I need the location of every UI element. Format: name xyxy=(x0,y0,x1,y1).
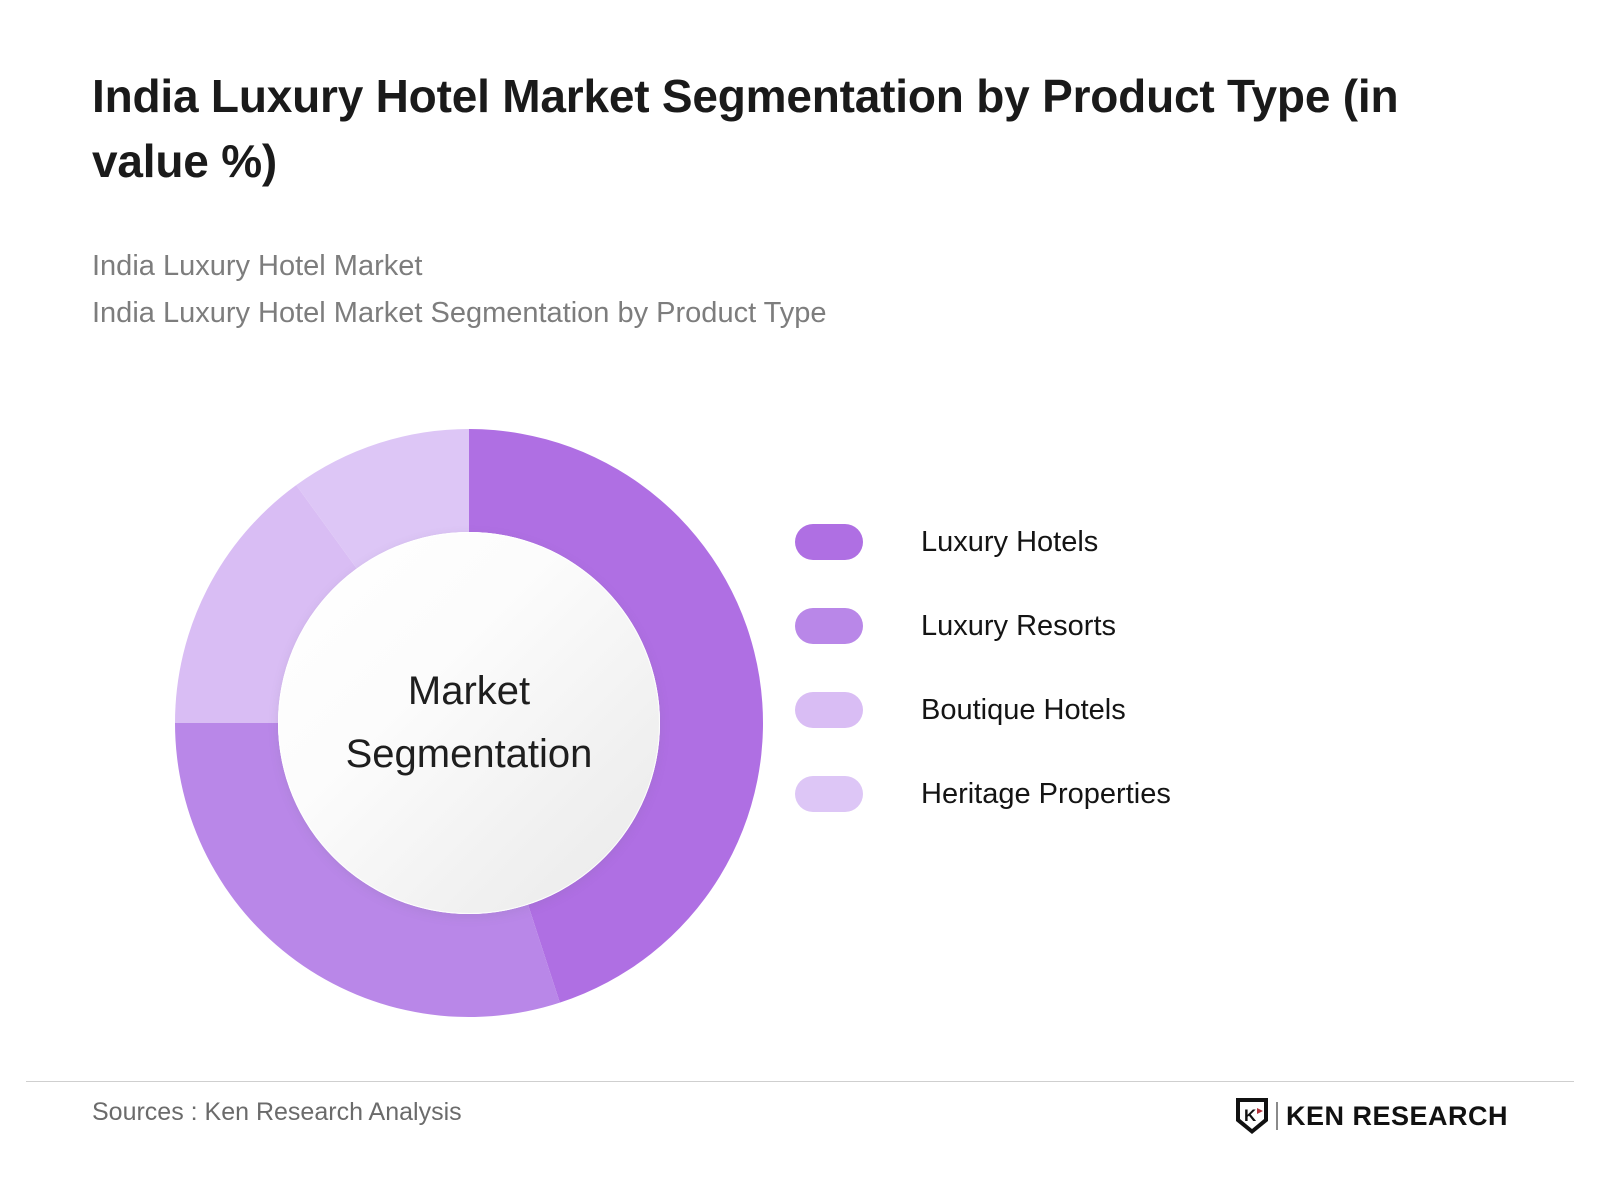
logo-wordmark: KEN RESEARCH xyxy=(1286,1101,1508,1132)
donut-center-line-1: Market xyxy=(408,660,530,723)
legend-swatch xyxy=(795,524,863,560)
page-title: India Luxury Hotel Market Segmentation b… xyxy=(92,64,1492,195)
legend-swatch xyxy=(795,692,863,728)
subtitle-line-1: India Luxury Hotel Market xyxy=(92,243,1512,290)
legend-swatch xyxy=(795,608,863,644)
chart-legend: Luxury HotelsLuxury ResortsBoutique Hote… xyxy=(795,500,1395,836)
header: India Luxury Hotel Market Segmentation b… xyxy=(92,64,1512,337)
legend-label: Boutique Hotels xyxy=(921,694,1126,727)
svg-text:K: K xyxy=(1244,1106,1257,1125)
footer-divider xyxy=(26,1081,1574,1082)
legend-label: Heritage Properties xyxy=(921,778,1171,811)
sources-note: Sources : Ken Research Analysis xyxy=(92,1098,462,1127)
shield-k-icon: K xyxy=(1235,1097,1269,1135)
legend-swatch xyxy=(795,776,863,812)
legend-label: Luxury Resorts xyxy=(921,610,1116,643)
logo-separator xyxy=(1276,1102,1278,1130)
donut-center-disc: Market Segmentation xyxy=(278,532,660,914)
legend-item[interactable]: Heritage Properties xyxy=(795,752,1395,836)
ken-research-logo: K KEN RESEARCH xyxy=(1235,1095,1508,1137)
donut-center-line-2: Segmentation xyxy=(346,723,593,786)
legend-item[interactable]: Boutique Hotels xyxy=(795,668,1395,752)
subtitle-line-2: India Luxury Hotel Market Segmentation b… xyxy=(92,290,1512,337)
donut-chart: Market Segmentation xyxy=(175,429,763,1017)
legend-item[interactable]: Luxury Resorts xyxy=(795,584,1395,668)
subtitle-block: India Luxury Hotel Market India Luxury H… xyxy=(92,243,1512,337)
chart-area: Market Segmentation Luxury HotelsLuxury … xyxy=(0,395,1600,1065)
slide-canvas: India Luxury Hotel Market Segmentation b… xyxy=(0,0,1600,1200)
legend-label: Luxury Hotels xyxy=(921,526,1098,559)
legend-item[interactable]: Luxury Hotels xyxy=(795,500,1395,584)
